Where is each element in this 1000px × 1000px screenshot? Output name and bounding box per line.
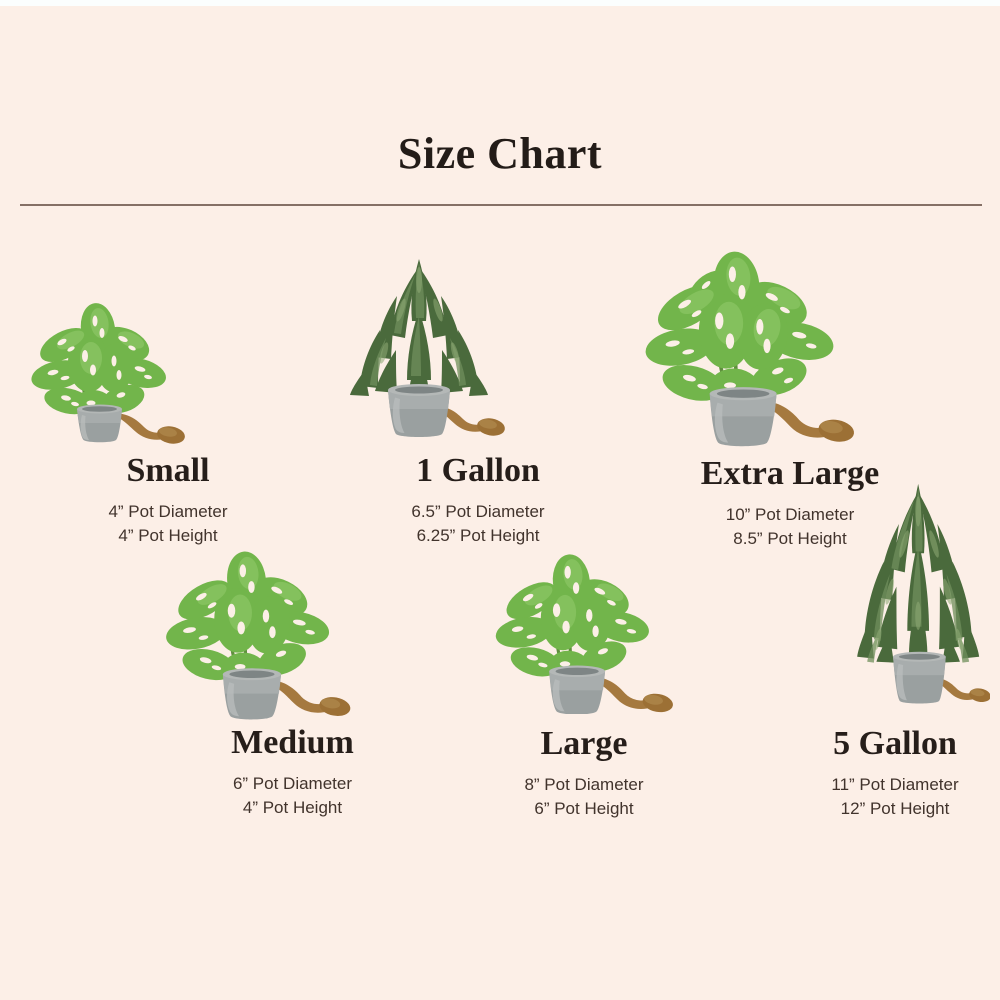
size-chart-page: Size Chart	[0, 0, 1000, 1000]
monstera-adansonii-icon	[489, 548, 679, 714]
size-name-large: Large	[465, 726, 703, 761]
labels-small: Small 4” Pot Diameter 4” Pot Height	[8, 453, 328, 547]
size-height-five-gallon: 12” Pot Height	[790, 797, 1000, 820]
labels-five-gallon: 5 Gallon 11” Pot Diameter 12” Pot Height	[790, 726, 1000, 820]
labels-one-gallon: 1 Gallon 6.5” Pot Diameter 6.25” Pot Hei…	[318, 453, 638, 547]
size-diameter-medium: 6” Pot Diameter	[130, 772, 455, 795]
size-name-medium: Medium	[130, 725, 455, 760]
plant-illustration-monstera-small	[18, 290, 198, 445]
size-diameter-large: 8” Pot Diameter	[465, 773, 703, 796]
labels-medium: Medium 6” Pot Diameter 4” Pot Height	[130, 725, 455, 819]
top-edge-highlight	[0, 0, 1000, 6]
size-name-five-gallon: 5 Gallon	[790, 726, 1000, 761]
page-title: Size Chart	[0, 128, 1000, 179]
size-height-medium: 4” Pot Height	[130, 796, 455, 819]
size-height-small: 4” Pot Height	[8, 524, 328, 547]
conifer-icon	[848, 478, 990, 714]
monstera-adansonii-icon	[18, 290, 198, 445]
plant-illustration-monstera-medium	[162, 545, 357, 720]
monstera-adansonii-icon	[644, 248, 859, 448]
plant-illustration-monstera-large	[489, 548, 679, 714]
conifer-icon	[330, 250, 510, 445]
size-height-large: 6” Pot Height	[465, 797, 703, 820]
size-height-one-gallon: 6.25” Pot Height	[318, 524, 638, 547]
size-name-one-gallon: 1 Gallon	[318, 453, 638, 488]
monstera-adansonii-icon	[162, 545, 357, 720]
plant-illustration-conifer-five-gallon	[848, 478, 990, 714]
size-name-small: Small	[8, 453, 328, 488]
plant-illustration-monstera-extra-large	[644, 248, 859, 448]
size-diameter-five-gallon: 11” Pot Diameter	[790, 773, 1000, 796]
header-divider	[20, 204, 982, 206]
size-diameter-one-gallon: 6.5” Pot Diameter	[318, 500, 638, 523]
plant-illustration-conifer-one-gallon	[330, 250, 510, 445]
labels-large: Large 8” Pot Diameter 6” Pot Height	[465, 726, 703, 820]
size-diameter-small: 4” Pot Diameter	[8, 500, 328, 523]
